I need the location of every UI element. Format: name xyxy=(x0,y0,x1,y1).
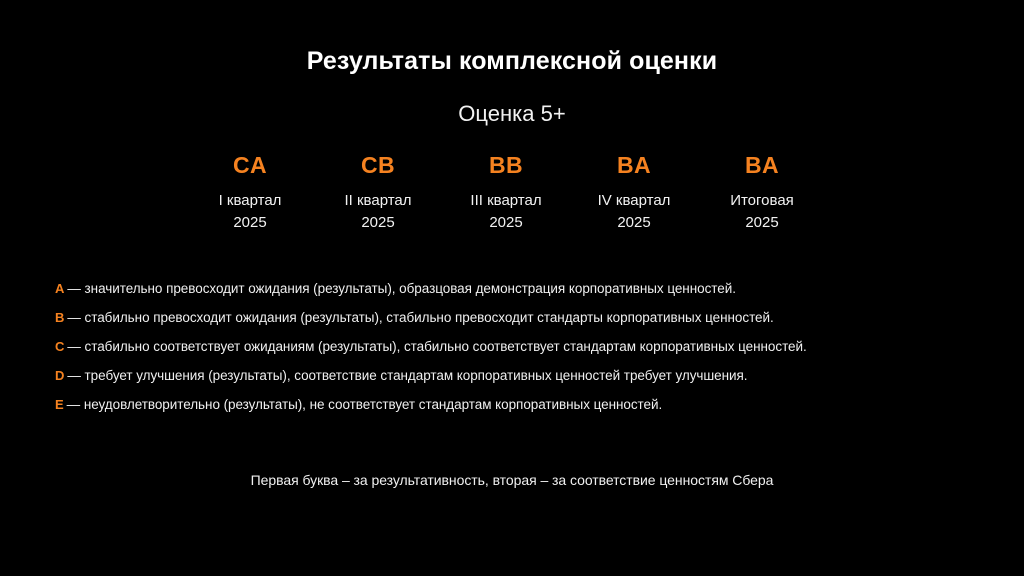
legend-letter: B xyxy=(55,310,64,325)
grade-period: III квартал xyxy=(444,190,568,211)
grade-period: Итоговая xyxy=(700,190,824,211)
legend-letter: C xyxy=(55,339,64,354)
grade-code: CB xyxy=(316,152,440,178)
legend-item: D — требует улучшения (результаты), соот… xyxy=(55,368,995,397)
grade-period: IV квартал xyxy=(572,190,696,211)
grade-column: BA IV квартал 2025 xyxy=(570,152,698,233)
legend-letter: E xyxy=(55,397,64,412)
legend-item: B — стабильно превосходит ожидания (резу… xyxy=(55,310,995,339)
grade-column: CA I квартал 2025 xyxy=(186,152,314,233)
legend-text: — стабильно превосходит ожидания (резуль… xyxy=(67,310,773,325)
page-title: Результаты комплексной оценки xyxy=(0,47,1024,76)
grade-year: 2025 xyxy=(444,212,568,233)
grade-year: 2025 xyxy=(572,212,696,233)
grade-code: BA xyxy=(700,152,824,178)
page-subtitle: Оценка 5+ xyxy=(0,101,1024,127)
legend-list: A — значительно превосходит ожидания (ре… xyxy=(55,281,995,426)
grade-column: CB II квартал 2025 xyxy=(314,152,442,233)
legend-text: — значительно превосходит ожидания (резу… xyxy=(67,281,736,296)
grade-year: 2025 xyxy=(188,212,312,233)
grade-year: 2025 xyxy=(316,212,440,233)
footnote: Первая буква – за результативность, втор… xyxy=(0,472,1024,488)
legend-text: — требует улучшения (результаты), соотве… xyxy=(67,368,747,383)
grade-code: BB xyxy=(444,152,568,178)
grade-year: 2025 xyxy=(700,212,824,233)
grade-column: BA Итоговая 2025 xyxy=(698,152,826,233)
grades-row: CA I квартал 2025 CB II квартал 2025 BB … xyxy=(186,152,826,233)
slide-canvas: Результаты комплексной оценки Оценка 5+ … xyxy=(0,0,1024,576)
grade-column: BB III квартал 2025 xyxy=(442,152,570,233)
legend-letter: A xyxy=(55,281,64,296)
legend-item: C — стабильно соответствует ожиданиям (р… xyxy=(55,339,995,368)
grade-period: I квартал xyxy=(188,190,312,211)
legend-item: A — значительно превосходит ожидания (ре… xyxy=(55,281,995,310)
legend-letter: D xyxy=(55,368,64,383)
grade-period: II квартал xyxy=(316,190,440,211)
grade-code: BA xyxy=(572,152,696,178)
legend-text: — стабильно соответствует ожиданиям (рез… xyxy=(67,339,806,354)
legend-text: — неудовлетворительно (результаты), не с… xyxy=(67,397,663,412)
legend-item: E — неудовлетворительно (результаты), не… xyxy=(55,397,995,426)
grade-code: CA xyxy=(188,152,312,178)
